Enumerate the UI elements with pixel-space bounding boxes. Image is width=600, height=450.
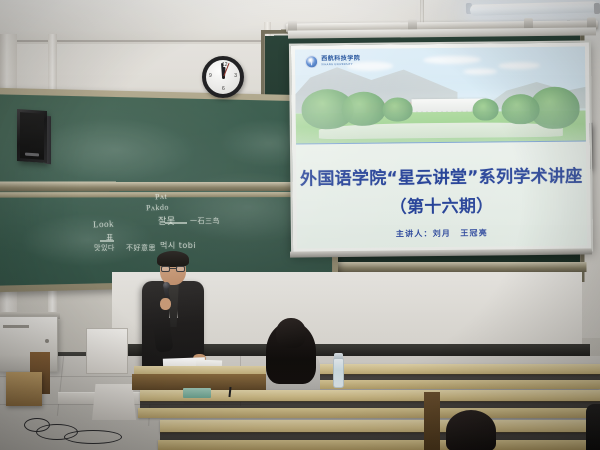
chalk-line: 맛있다 xyxy=(94,243,115,253)
white-storage-box xyxy=(86,328,128,374)
slide-title: 外国语学院“星云讲堂”系列学术讲座 xyxy=(300,166,583,190)
chalk-line: Pʌkdo xyxy=(146,203,169,213)
university-name-cn: 西航科技学院 xyxy=(321,56,360,62)
clock-number: 3 xyxy=(234,73,237,79)
cabinet-vent xyxy=(3,325,29,328)
slide-text-block: 外国语学院“星云讲堂”系列学术讲座 （第十六期） 主讲人：刘月 王冠亮 2025… xyxy=(296,143,587,249)
microphone-head-icon xyxy=(163,282,170,289)
clock-number: 9 xyxy=(209,73,212,79)
presentation-slide: 西航科技学院 XIHANG UNIVERSITY 外国语学院“星云讲堂”系列学术… xyxy=(295,46,587,248)
student-head xyxy=(276,318,306,348)
student-head-corner xyxy=(446,410,496,450)
bench-row-front xyxy=(158,440,600,450)
wall-speaker-left xyxy=(17,109,47,163)
clock-face: 12 3 6 9 xyxy=(206,60,240,94)
university-name-en: XIHANG UNIVERSITY xyxy=(321,63,360,67)
chalk-tray xyxy=(0,182,328,192)
bench-row-front xyxy=(138,408,600,418)
slide-subtitle: （第十六期） xyxy=(390,191,494,217)
student-edge-right xyxy=(586,404,600,450)
lecturer-glasses-icon xyxy=(161,266,185,272)
chalk-line: Look xyxy=(93,219,114,230)
waste-bin xyxy=(92,384,136,420)
lecturer-hair xyxy=(157,251,189,267)
projection-screen: 西航科技学院 XIHANG UNIVERSITY 外国语学院“星云讲堂”系列学术… xyxy=(289,40,593,254)
water-bottle xyxy=(333,358,344,388)
university-logo: 西航科技学院 XIHANG UNIVERSITY xyxy=(305,55,360,69)
chalk-line: 먹시 tobi xyxy=(160,240,196,251)
chalk-line: 一石三鸟 xyxy=(190,216,220,226)
water-bottle-cap xyxy=(334,353,343,359)
chalk-line: 不好意思 xyxy=(126,243,156,253)
clock-center-pin xyxy=(222,76,225,79)
cabinet-button[interactable] xyxy=(45,339,49,343)
clock-number: 6 xyxy=(222,86,225,92)
wall-clock: 12 3 6 9 xyxy=(202,56,244,98)
bench-end-panel xyxy=(424,392,440,450)
slide-date: 2025年11月12日 xyxy=(414,248,469,249)
university-emblem-icon xyxy=(305,55,318,68)
tube-light-cap-right xyxy=(594,3,600,14)
bench-row-front xyxy=(314,380,600,389)
floor-cable xyxy=(64,430,122,444)
wooden-stool xyxy=(6,372,42,406)
lecture-hall-photo: Pʌt Pʌkdo Look 잘못 一石三鸟 표 맛있다 不好意思 먹시 tob… xyxy=(0,0,600,450)
chalk-line: Pʌt xyxy=(155,192,168,202)
chalk-line: 잘못 xyxy=(158,214,176,227)
green-notebook xyxy=(183,388,211,398)
slide-speakers: 主讲人：刘月 王冠亮 xyxy=(396,227,488,239)
lecturer-hand-holding-mic xyxy=(160,298,171,310)
